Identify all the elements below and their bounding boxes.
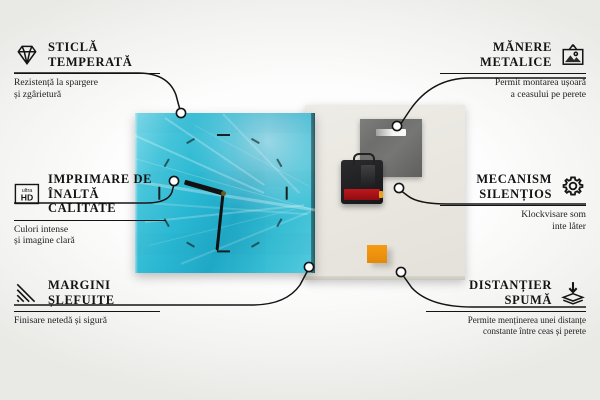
feature-rule: [14, 73, 160, 74]
foam-spacer: [367, 245, 387, 263]
svg-text:HD: HD: [21, 192, 33, 202]
infographic-canvas: STICLĂ TEMPERATĂ Rezistență la spargere …: [0, 0, 600, 400]
arrow-down-onto-layer-icon: [560, 280, 586, 306]
feature-description: Permit montarea ușoară a ceasului pe per…: [440, 77, 586, 100]
feature-rule: [14, 220, 166, 221]
feature-header: STICLĂ TEMPERATĂ: [14, 40, 160, 69]
feature-title: IMPRIMARE DE ÎNALTĂ CALITATE: [48, 172, 166, 216]
feature-header: MĂNERE METALICE: [440, 40, 586, 69]
feature-silent-mechanism: MECANISM SILENȚIOS Klockvisare som inte …: [440, 172, 586, 232]
hanger-slot: [376, 129, 406, 136]
feature-description: Finisare netedă și sigură: [14, 315, 160, 327]
feature-header: DISTANȚIER SPUMĂ: [426, 278, 586, 307]
feature-polished-edges: MARGINI ȘLEFUITE Finisare netedă și sigu…: [14, 278, 160, 327]
feature-title: STICLĂ TEMPERATĂ: [48, 40, 132, 69]
feature-header: MECANISM SILENȚIOS: [440, 172, 586, 201]
feature-rule: [440, 205, 586, 206]
clock-movement-box: [341, 160, 383, 204]
framed-picture-hanger-icon: [560, 42, 586, 68]
feature-header: MARGINI ȘLEFUITE: [14, 278, 160, 307]
feature-title: MECANISM SILENȚIOS: [476, 172, 552, 201]
feature-description: Culori intense și imagine clară: [14, 224, 166, 247]
feature-header: ultra HD IMPRIMARE DE ÎNALTĂ CALITATE: [14, 172, 166, 216]
feature-description: Permite menținerea unei distanțe constan…: [426, 315, 586, 337]
feature-title: DISTANȚIER SPUMĂ: [469, 278, 552, 307]
diamond-icon: [14, 42, 40, 68]
clock-tick: [217, 134, 230, 136]
feature-metal-handles: MĂNERE METALICE Permit montarea ușoară a…: [440, 40, 586, 100]
clock-tick: [277, 159, 283, 168]
clock-tick: [186, 138, 195, 144]
movement-hook: [353, 153, 375, 165]
feature-rule: [426, 311, 586, 312]
feature-high-quality-print: ultra HD IMPRIMARE DE ÎNALTĂ CALITATE Cu…: [14, 172, 166, 247]
feather-shadow: [231, 113, 265, 273]
feature-foam-spacer: DISTANȚIER SPUMĂ Permite menținerea unei…: [426, 278, 586, 337]
feature-tempered-glass: STICLĂ TEMPERATĂ Rezistență la spargere …: [14, 40, 160, 100]
feature-rule: [440, 73, 586, 74]
feature-title: MĂNERE METALICE: [480, 40, 552, 69]
clock-center-pin: [221, 191, 226, 196]
ultra-hd-icon: ultra HD: [14, 181, 40, 207]
feature-description: Rezistență la spargere și zgârietură: [14, 77, 160, 100]
feather-shadow: [135, 113, 315, 133]
clock-tick: [163, 159, 169, 168]
battery: [344, 189, 380, 200]
feature-rule: [14, 311, 160, 312]
movement-gloss: [361, 165, 375, 187]
gear-icon: [560, 174, 586, 200]
product-assembly: [135, 105, 465, 280]
clock-tick: [285, 186, 287, 199]
feature-title: MARGINI ȘLEFUITE: [48, 278, 115, 307]
feature-description: Klockvisare som inte låter: [440, 209, 586, 232]
hatched-edge-icon: [14, 280, 40, 306]
